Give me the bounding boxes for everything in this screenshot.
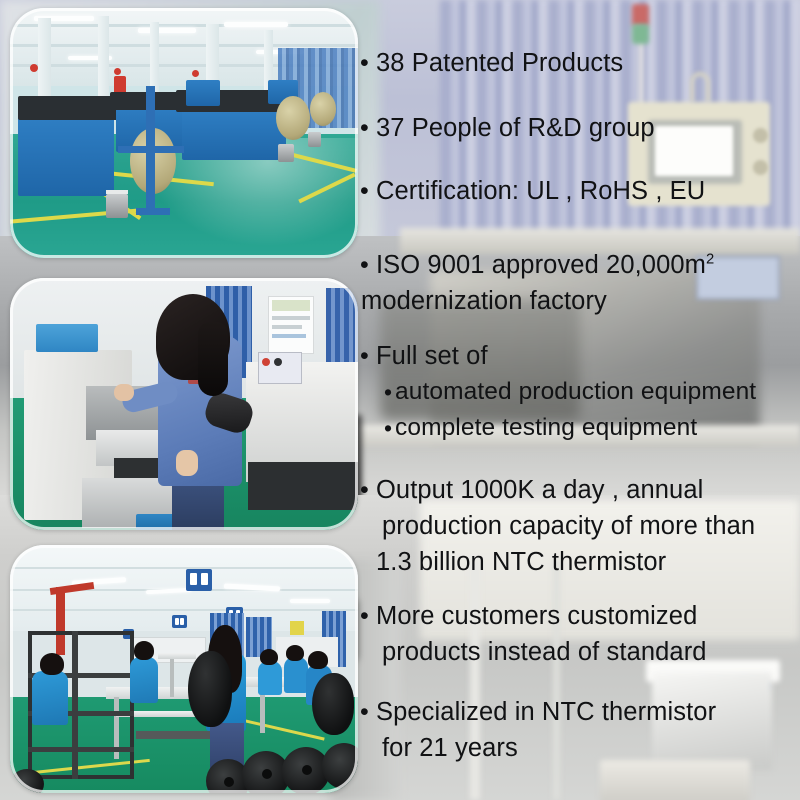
bullet-marker: • <box>360 110 376 146</box>
photo-assembly-workshop <box>10 545 358 793</box>
bullet-marker: • <box>360 338 376 374</box>
bullet-text: 37 People of R&D group <box>376 110 655 146</box>
bullet-marker: • <box>360 694 376 730</box>
bullet-text: ISO 9001 approved 20,000m2 <box>376 247 714 283</box>
bullet-item-output-capacity: • Output 1000K a day , annual production… <box>360 472 755 580</box>
bullet-item-certification: • Certification: UL , RoHS , EU <box>360 173 705 209</box>
bullet-item-patented-products: • 38 Patented Products <box>360 45 623 81</box>
sub-bullet-item: • complete testing equipment <box>360 410 756 446</box>
bullet-text: Full set of <box>376 338 488 374</box>
sub-bullet-item: • automated production equipment <box>360 374 756 410</box>
bullet-text: Output 1000K a day , annual <box>376 472 703 508</box>
sub-bullet-text: complete testing equipment <box>395 410 697 446</box>
bullet-marker: • <box>360 173 376 209</box>
bullet-text: Certification: UL , RoHS , EU <box>376 173 705 209</box>
bullet-text: 1.3 billion NTC thermistor <box>376 544 666 580</box>
bullet-text: products instead of standard <box>382 634 707 670</box>
bullet-item-customized-products: • More customers customized products ins… <box>360 598 707 670</box>
bullet-list: • 38 Patented Products • 37 People of R&… <box>360 0 800 800</box>
bullet-marker: • <box>360 45 376 81</box>
bullet-text: for 21 years <box>382 730 518 766</box>
bullet-text: modernization factory <box>361 283 607 319</box>
sub-bullet-marker: • <box>384 374 395 410</box>
bullet-item-full-set: • Full set of • automated production equ… <box>360 338 756 446</box>
bullet-item-specialized-years: • Specialized in NTC thermistor for 21 y… <box>360 694 716 766</box>
bullet-text: More customers customized <box>376 598 697 634</box>
square-meter-superscript: 2 <box>706 252 714 268</box>
bullet-marker: • <box>360 472 376 508</box>
bullet-item-iso-factory: • ISO 9001 approved 20,000m2 modernizati… <box>360 247 714 319</box>
bullet-text: Specialized in NTC thermistor <box>376 694 716 730</box>
bullet-marker: • <box>360 598 376 634</box>
sub-bullet-text: automated production equipment <box>395 374 756 410</box>
iso-line-prefix: ISO 9001 approved 20,000m <box>376 251 706 279</box>
bullet-item-rnd-group: • 37 People of R&D group <box>360 110 655 146</box>
photo-operator-at-machine <box>10 278 358 530</box>
bullet-text: production capacity of more than <box>382 508 755 544</box>
photo-factory-production-line <box>10 8 358 258</box>
sub-bullet-marker: • <box>384 410 395 446</box>
bullet-text: 38 Patented Products <box>376 45 623 81</box>
bullet-marker: • <box>360 247 376 283</box>
